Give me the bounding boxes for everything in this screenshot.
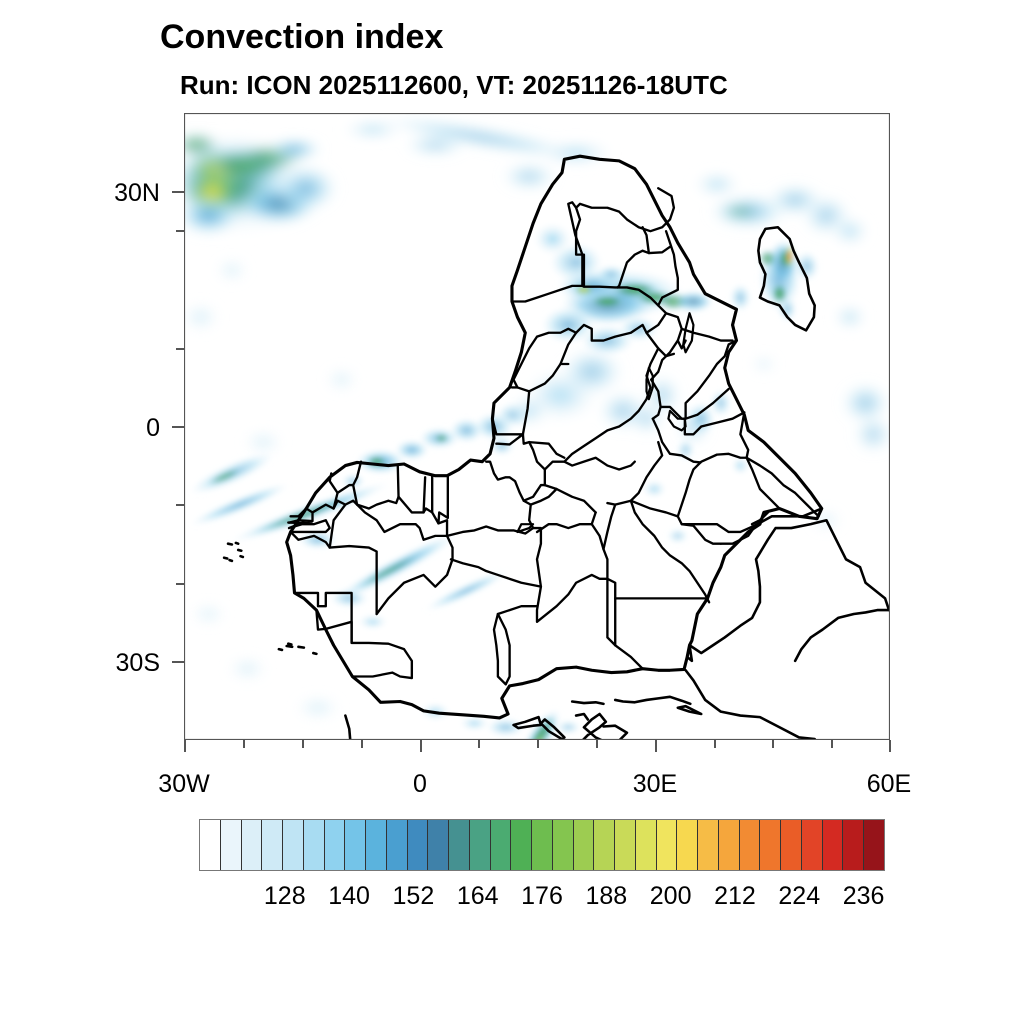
colorbar-cell-15 xyxy=(511,820,532,870)
colorbar-cell-22 xyxy=(657,820,678,870)
colorbar-cell-31 xyxy=(843,820,864,870)
colorbar-cell-1 xyxy=(221,820,242,870)
colorbar-cell-13 xyxy=(470,820,491,870)
colorbar-cell-29 xyxy=(802,820,823,870)
xtick-52E xyxy=(831,740,833,748)
colorbar-cell-18 xyxy=(574,820,595,870)
map-panel xyxy=(184,113,890,740)
xtick-22E xyxy=(596,740,598,748)
xtick-60E xyxy=(889,740,891,752)
xtick-30E xyxy=(655,740,657,752)
colorbar-cell-5 xyxy=(304,820,325,870)
colorbar-cell-25 xyxy=(719,820,740,870)
colorbar-cell-30 xyxy=(823,820,844,870)
xtick-7W xyxy=(361,740,363,748)
figure-subtitle: Run: ICON 2025112600, VT: 20251126-18UTC xyxy=(180,70,728,101)
xtick-label-30W: 30W xyxy=(124,770,244,799)
ytick-label-30N: 30N xyxy=(40,179,160,208)
xtick-15E xyxy=(537,740,539,748)
colorbar-cell-6 xyxy=(325,820,346,870)
ytick-20N xyxy=(176,230,184,232)
colorbar-cell-32 xyxy=(864,820,884,870)
colorbar-cell-11 xyxy=(428,820,449,870)
ytick-30S xyxy=(172,661,184,663)
xtick-label-0: 0 xyxy=(360,770,480,799)
colorbar-cell-16 xyxy=(532,820,553,870)
colorbar-cell-26 xyxy=(740,820,761,870)
feature-mediterranean xyxy=(420,702,581,739)
feature-southern-ocean-front xyxy=(341,114,615,191)
xtick-7E xyxy=(478,740,480,748)
colorbar-cell-3 xyxy=(262,820,283,870)
xtick-label-60E: 60E xyxy=(829,770,949,799)
colorbar-cell-2 xyxy=(242,820,263,870)
map-canvas xyxy=(185,114,889,739)
ytick-label-30S: 30S xyxy=(40,649,160,678)
colorbar-cell-8 xyxy=(366,820,387,870)
feature-west-africa-streaks xyxy=(185,445,512,630)
xtick-22W xyxy=(243,740,245,748)
colorbar[interactable] xyxy=(199,819,885,871)
xtick-15W xyxy=(302,740,304,748)
colorbar-cell-27 xyxy=(760,820,781,870)
colorbar-cell-28 xyxy=(781,820,802,870)
xtick-label-30E: 30E xyxy=(595,770,715,799)
colorbar-tick-label-236: 236 xyxy=(824,882,904,911)
ytick-30N xyxy=(172,191,184,193)
xtick-37E xyxy=(714,740,716,748)
colorbar-cell-4 xyxy=(283,820,304,870)
page-title: Convection index xyxy=(160,18,443,57)
colorbar-cell-10 xyxy=(408,820,429,870)
colorbar-cell-0 xyxy=(200,820,221,870)
ytick-10N xyxy=(176,348,184,350)
colorbar-cell-20 xyxy=(615,820,636,870)
colorbar-cell-19 xyxy=(594,820,615,870)
xtick-45E xyxy=(772,740,774,748)
colorbar-cell-12 xyxy=(449,820,470,870)
colorbar-labels: 128140152164176188200212224236 xyxy=(0,882,1024,918)
feature-madagascar xyxy=(729,239,819,322)
colorbar-cell-24 xyxy=(698,820,719,870)
feature-south-atlantic xyxy=(185,130,338,239)
colorbar-cell-9 xyxy=(387,820,408,870)
xtick-0 xyxy=(420,740,422,752)
xtick-30W xyxy=(184,740,186,752)
ytick-label-0: 0 xyxy=(40,414,160,443)
colorbar-cell-17 xyxy=(553,820,574,870)
ytick-10S xyxy=(176,504,184,506)
colorbar-cell-21 xyxy=(636,820,657,870)
colorbar-cell-7 xyxy=(345,820,366,870)
ytick-0 xyxy=(172,426,184,428)
colorbar-cell-23 xyxy=(677,820,698,870)
figure-root: Convection index Run: ICON 2025112600, V… xyxy=(0,0,1024,1024)
colorbar-cell-14 xyxy=(491,820,512,870)
ytick-20S xyxy=(176,583,184,585)
